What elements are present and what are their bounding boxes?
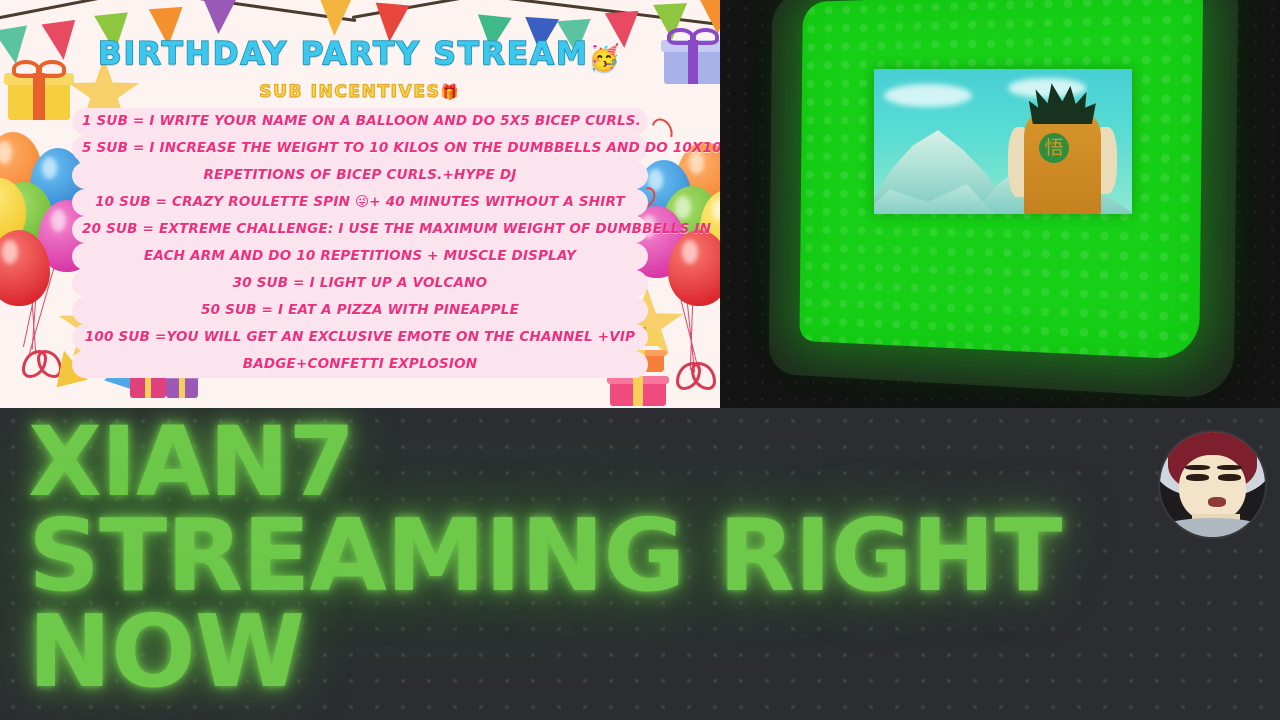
list-item: 50 SUB = I EAT A PIZZA WITH PINEAPPLE [72,297,648,324]
list-item: 5 SUB = I INCREASE THE WEIGHT TO 10 KILO… [72,135,648,162]
anime-video-frame: 悟 [874,69,1132,214]
avatar-shoulders [1160,518,1265,537]
subtitle: SUB INCENTIVES🎁 [0,82,720,102]
banner-text-block: XIAN7 STREAMING RIGHT NOW [28,416,1208,700]
bunting-flag [201,0,236,35]
list-item: EACH ARM AND DO 10 REPETITIONS + MUSCLE … [72,243,648,270]
bunting-flag [317,0,352,37]
list-item: 1 SUB = I WRITE YOUR NAME ON A BALLOON A… [72,108,648,135]
list-item: 30 SUB = I LIGHT UP A VOLCANO [72,270,648,297]
sub-incentives-list: 1 SUB = I WRITE YOUR NAME ON A BALLOON A… [72,108,648,378]
kanji-symbol: 悟 [1039,133,1069,163]
list-item: 20 SUB = EXTREME CHALLENGE: I USE THE MA… [72,216,648,243]
character-body [1024,113,1101,215]
cloud [1008,78,1085,98]
list-item: 10 SUB = CRAZY ROULETTE SPIN 😜+ 40 MINUT… [72,189,648,216]
party-face-emoji: 🥳 [589,43,622,72]
channel-name: XIAN7 [28,416,1208,508]
gift-emoji: 🎁 [440,83,460,101]
list-item: 100 SUB =YOU WILL GET AN EXCLUSIVE EMOTE… [72,324,648,351]
page-title-text: BIRTHDAY PARTY STREAM [98,36,589,72]
streaming-banner: XIAN7 STREAMING RIGHT NOW [0,408,1280,720]
subtitle-text: SUB INCENTIVES [259,82,440,102]
avatar-eye [1186,474,1209,481]
avatar-brow [1217,465,1242,470]
avatar[interactable] [1160,432,1265,537]
webcam-greenscreen-panel: 悟 [720,0,1280,408]
avatar-mouth [1208,497,1226,506]
page-title: BIRTHDAY PARTY STREAM🥳 [0,36,720,73]
birthday-poster-panel: BIRTHDAY PARTY STREAM🥳 SUB INCENTIVES🎁 1… [0,0,720,408]
stream-overlay-stage: BIRTHDAY PARTY STREAM🥳 SUB INCENTIVES🎁 1… [0,0,1280,720]
list-item: BADGE+CONFETTI EXPLOSION [72,351,648,378]
avatar-brow [1185,465,1210,470]
list-item: REPETITIONS OF BICEP CURLS.+HYPE DJ [72,162,648,189]
cloud [884,84,972,107]
avatar-eye [1218,474,1241,481]
balloon-bow [676,362,716,384]
streaming-status-text: STREAMING RIGHT NOW [28,508,1208,700]
